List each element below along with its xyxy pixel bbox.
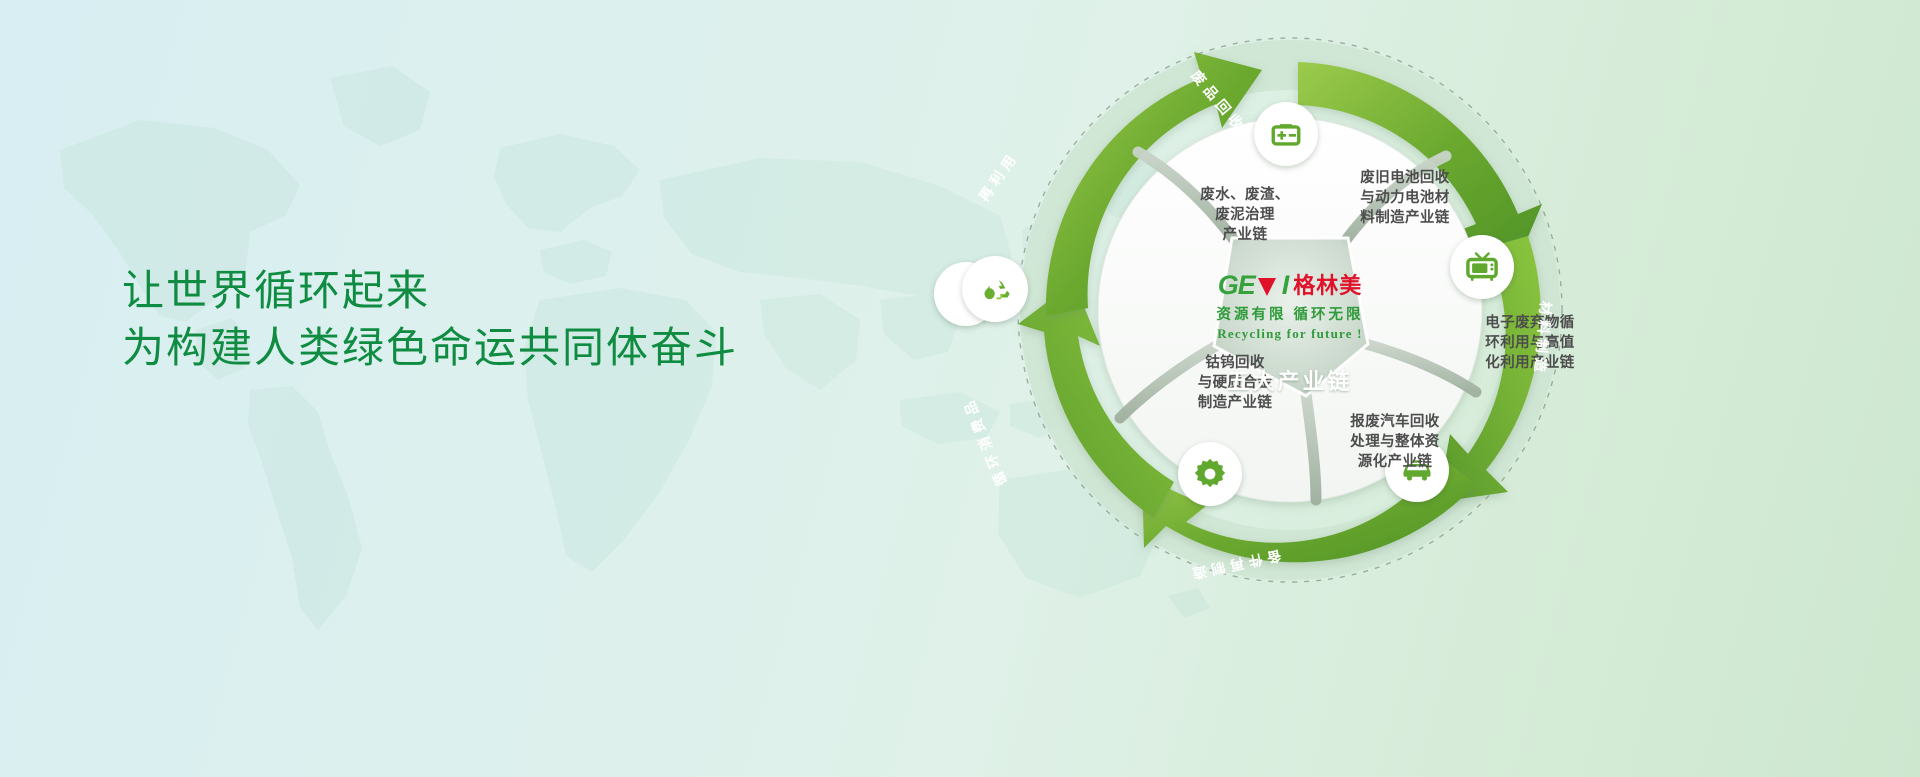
ring-label-circular-consumer-goods: 循环消费品 (957, 393, 1011, 489)
recycle-drop-icon (977, 271, 1013, 307)
badge-tv[interactable] (1450, 235, 1514, 299)
five-industry-chain-diagram: 废水、废渣、 废泥治理 产业链 废旧电池回收 与动力电池材 料制造产业链 电子废… (1010, 0, 1570, 777)
segment-label-end-of-life-vehicle: 报废汽车回收 处理与整体资 源化产业链 (1315, 412, 1475, 472)
gear-icon (1192, 456, 1228, 492)
page-title: 让世界循环起来 为构建人类绿色命运共同体奋斗 (122, 262, 738, 376)
gem-chinese-name: 格林美 (1293, 275, 1362, 297)
badge-battery[interactable] (1254, 102, 1318, 166)
badge-drop-recycle[interactable] (962, 256, 1028, 322)
center-logo: GE I 格林美 资源有限 循环无限 Recycling for future … (1180, 272, 1400, 396)
gem-wordmark-tail: I (1282, 272, 1289, 299)
headline-line-1: 让世界循环起来 (122, 262, 738, 319)
gem-triangle-icon (1258, 278, 1276, 296)
center-subtitle: 五大产业链 (1180, 364, 1400, 396)
battery-icon (1269, 117, 1303, 151)
segment-label-wastewater: 废水、废渣、 废泥治理 产业链 (1170, 185, 1320, 245)
logo-row: GE I 格林美 (1180, 272, 1400, 299)
tv-icon (1464, 249, 1500, 285)
slogan-chinese: 资源有限 循环无限 (1180, 303, 1400, 324)
badge-gear[interactable] (1178, 442, 1242, 506)
gem-wordmark: GE (1218, 272, 1255, 299)
segment-label-battery: 废旧电池回收 与动力电池材 料制造产业链 (1325, 168, 1485, 228)
headline-line-2: 为构建人类绿色命运共同体奋斗 (122, 319, 738, 376)
world-map-watermark (0, 0, 1920, 777)
slogan-english: Recycling for future ! (1180, 326, 1400, 342)
